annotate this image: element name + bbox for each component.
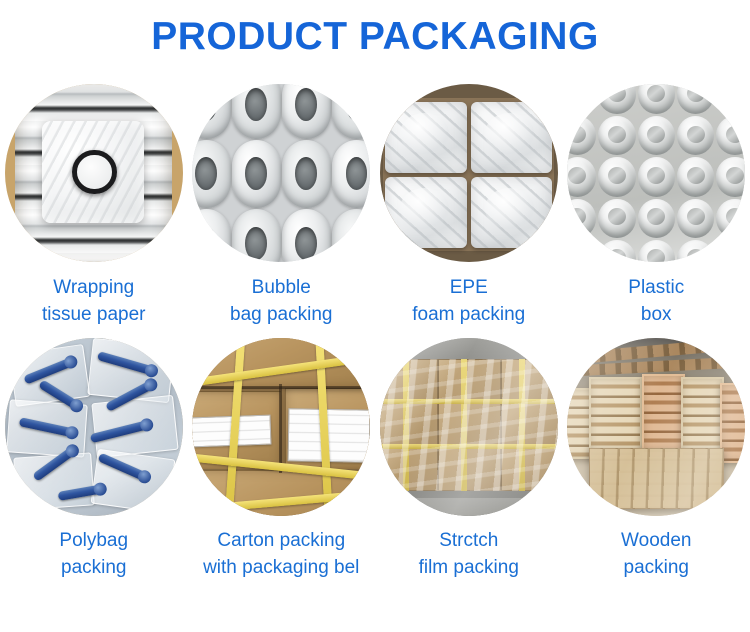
plastic-box-caption: Plastic box [562,274,750,328]
wrapping-tissue-paper-photo [5,84,183,262]
packaging-item-plastic-box: Plastic box [563,84,750,328]
packaging-row-1: Wrapping tissue paper Bubble bag packing [0,84,750,328]
packaging-item-polybag-packing: Polybag packing [0,338,188,581]
stretch-film-packing-photo [380,338,558,516]
packaging-item-wooden-packing: Wooden packing [563,338,750,581]
packaging-item-epe-foam-packing: EPE foam packing [375,84,563,328]
packaging-item-bubble-bag-packing: Bubble bag packing [188,84,376,328]
epe-foam-packing-caption: EPE foam packing [375,274,563,328]
wrapping-tissue-paper-caption: Wrapping tissue paper [0,274,188,328]
stretch-film-packing-caption: Strctch film packing [375,527,563,581]
product-packaging-infographic: PRODUCT PACKAGING Wrapping tissue paper [0,0,750,632]
wooden-packing-photo [567,338,745,516]
polybag-packing-photo [5,338,183,516]
polybag-packing-caption: Polybag packing [0,527,188,581]
bubble-bag-packing-caption: Bubble bag packing [187,274,375,328]
plastic-box-photo [567,84,745,262]
packaging-item-wrapping-tissue-paper: Wrapping tissue paper [0,84,188,328]
packaging-grid: Wrapping tissue paper Bubble bag packing [0,84,750,581]
carton-packing-photo [192,338,370,516]
epe-foam-packing-photo [380,84,558,262]
packaging-item-stretch-film-packing: Strctch film packing [375,338,563,581]
carton-packing-caption: Carton packing with packaging bel [187,527,375,581]
bubble-bag-packing-photo [192,84,370,262]
page-title: PRODUCT PACKAGING [0,14,750,60]
packaging-item-carton-packing: Carton packing with packaging bel [188,338,376,581]
packaging-row-2: Polybag packing [0,338,750,581]
wooden-packing-caption: Wooden packing [562,527,750,581]
